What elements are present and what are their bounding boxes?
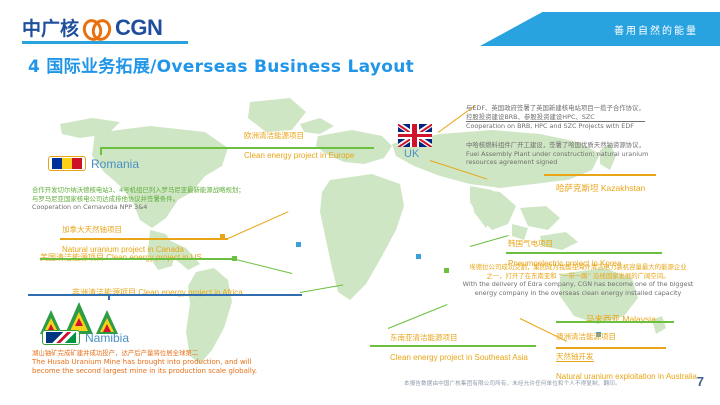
callout-canada-underline bbox=[60, 238, 228, 240]
callout-africa: 非洲清洁能源项目 Clean energy project in Africa bbox=[72, 281, 243, 301]
callout-europe-en: Clean energy project in Europe bbox=[244, 151, 354, 160]
callout-sea-cn: 东南亚清洁能源项目 bbox=[390, 333, 458, 342]
cgn-logo: 中广核 CGN bbox=[22, 14, 162, 41]
paragraph-edf-en: Cooperation on BRB, HPC and SZC Projects… bbox=[466, 122, 645, 131]
header-divider bbox=[22, 41, 188, 44]
paragraph-kz-cn1: 中哈核燃料组件厂开工建设，签署了哈国优质天然铀资源协议， bbox=[466, 141, 648, 150]
country-label-namibia: Namibia bbox=[85, 331, 129, 345]
callout-australia-cn2: 天然铀开发 bbox=[556, 352, 594, 362]
logo-english-text: CGN bbox=[115, 15, 162, 41]
paragraph-edf-cn1: 与EDF、英国政府签署了英国新建核电站项目一揽子合作协议， bbox=[466, 104, 645, 113]
callout-africa-line: 非洲清洁能源项目 Clean energy project in Africa bbox=[72, 288, 243, 297]
paragraph-edra: 埃德拉公司成功交割，集团成为我国在海外清洁电力装机容量最大的能源企业 之一，打开… bbox=[436, 263, 720, 298]
country-label-romania: Romania bbox=[91, 157, 139, 171]
callout-sea-underline bbox=[370, 345, 536, 347]
callout-kazakhstan-label: 哈萨克斯坦 Kazakhstan bbox=[556, 183, 645, 193]
paragraph-ro-cn1: 合作开发切尔纳沃德核电站3、4号机组已列入罗马尼亚最新能源战略规划； bbox=[32, 186, 245, 195]
uk-flag-icon bbox=[398, 124, 432, 147]
callout-kazakhstan: 哈萨克斯坦 Kazakhstan bbox=[556, 177, 645, 197]
country-chip-namibia: Namibia bbox=[42, 330, 129, 345]
country-label-uk: UK bbox=[404, 148, 419, 160]
paragraph-edf-cn2: 控股投资建设BRB、参股投资建设HPC、SZC bbox=[466, 113, 645, 123]
callout-europe-underline bbox=[100, 147, 374, 149]
marker-atlantic bbox=[296, 242, 301, 247]
paragraph-kz-en1: Fuel Assembly Plant under construction; … bbox=[466, 150, 648, 159]
paragraph-husab-cn1: 湖山铀矿完成矿建并成功投产，达产后产量将位居全球第二 bbox=[32, 349, 257, 358]
callout-malaysia-label: 马来西亚 Malaysia bbox=[586, 314, 656, 324]
paragraph-edra-en2: energy company in the overseas clean ene… bbox=[436, 289, 720, 298]
callout-canada-cn: 加拿大天然铀项目 bbox=[62, 225, 122, 234]
paragraph-kz-en2: resources agreement signed bbox=[466, 158, 648, 167]
callout-kazakhstan-underline bbox=[544, 174, 656, 176]
callout-us: 美国清洁能源项目 Clean energy project in US bbox=[40, 246, 202, 266]
page-title: 4 国际业务拓展/Overseas Business Layout bbox=[28, 52, 414, 77]
callout-malaysia-underline bbox=[556, 321, 674, 323]
romania-flag-icon bbox=[48, 156, 86, 171]
callout-sea-en: Clean energy project in Southeast Asia bbox=[390, 353, 528, 362]
paragraph-husab-en2: become the second largest mine in its pr… bbox=[32, 367, 257, 376]
page-number: 7 bbox=[697, 374, 704, 389]
callout-australia-underline bbox=[556, 347, 666, 349]
slogan-text: 善用自然的能量 bbox=[614, 22, 698, 37]
logo-chinese-text: 中广核 bbox=[22, 14, 79, 41]
paragraph-romania-npp: 合作开发切尔纳沃德核电站3、4号机组已列入罗马尼亚最新能源战略规划； 与罗马尼亚… bbox=[32, 186, 245, 212]
callout-europe-cn: 欧洲清洁能源项目 bbox=[244, 131, 304, 140]
footer-note: 本报告数据由中国广核集团有限公司所有，未经允许任何单位和个人不得复制、翻印。 bbox=[404, 379, 621, 387]
country-chip-romania: Romania bbox=[48, 156, 139, 171]
slide-root: 中广核 CGN 善用自然的能量 4 国际业务拓展/Overseas Busine… bbox=[0, 0, 720, 405]
paragraph-husab-en1: The Husab Uranium Mine has brought into … bbox=[32, 358, 257, 367]
callout-africa-underline bbox=[28, 294, 302, 296]
paragraph-edra-cn1: 埃德拉公司成功交割，集团成为我国在海外清洁电力装机容量最大的能源企业 bbox=[436, 263, 720, 272]
callout-australia: 澳洲清洁能源项目 天然铀开发 Natural uranium exploitat… bbox=[556, 325, 697, 385]
callout-europe-tick bbox=[100, 147, 102, 155]
callout-korea-underline bbox=[506, 252, 662, 254]
paragraph-edra-en1: With the delivery of Edra company, CGN h… bbox=[436, 280, 720, 289]
paragraph-ro-en: Cooperation on Cernavoda NPP 3&4 bbox=[32, 203, 245, 212]
paragraph-edra-cn2: 之一，打开了在东南亚和 “一带一路” 沿线国家发展的广阔空间。 bbox=[436, 272, 720, 281]
paragraph-ro-cn2: 与罗马尼亚国家核电公司达成排他协议并签署条件。 bbox=[32, 195, 245, 204]
namibia-flag-icon bbox=[42, 330, 80, 345]
paragraph-kazakhstan-fuel: 中哈核燃料组件厂开工建设，签署了哈国优质天然铀资源协议， Fuel Assemb… bbox=[466, 141, 648, 167]
paragraph-edf: 与EDF、英国政府签署了英国新建核电站项目一揽子合作协议， 控股投资建设BRB、… bbox=[466, 104, 645, 131]
paragraph-husab: 湖山铀矿完成矿建并成功投产，达产后产量将位居全球第二 The Husab Ura… bbox=[32, 349, 257, 377]
callout-korea-cn: 韩国气电项目 bbox=[508, 239, 553, 248]
slogan-banner: 善用自然的能量 bbox=[480, 12, 720, 46]
callout-us-underline bbox=[40, 258, 234, 260]
callout-africa-tick bbox=[108, 294, 110, 300]
callout-europe: 欧洲清洁能源项目 Clean energy project in Europe bbox=[244, 124, 354, 164]
marker-middle-east bbox=[416, 254, 421, 259]
callout-australia-cn1: 澳洲清洁能源项目 bbox=[556, 332, 616, 341]
cgn-rings-icon bbox=[82, 17, 112, 39]
